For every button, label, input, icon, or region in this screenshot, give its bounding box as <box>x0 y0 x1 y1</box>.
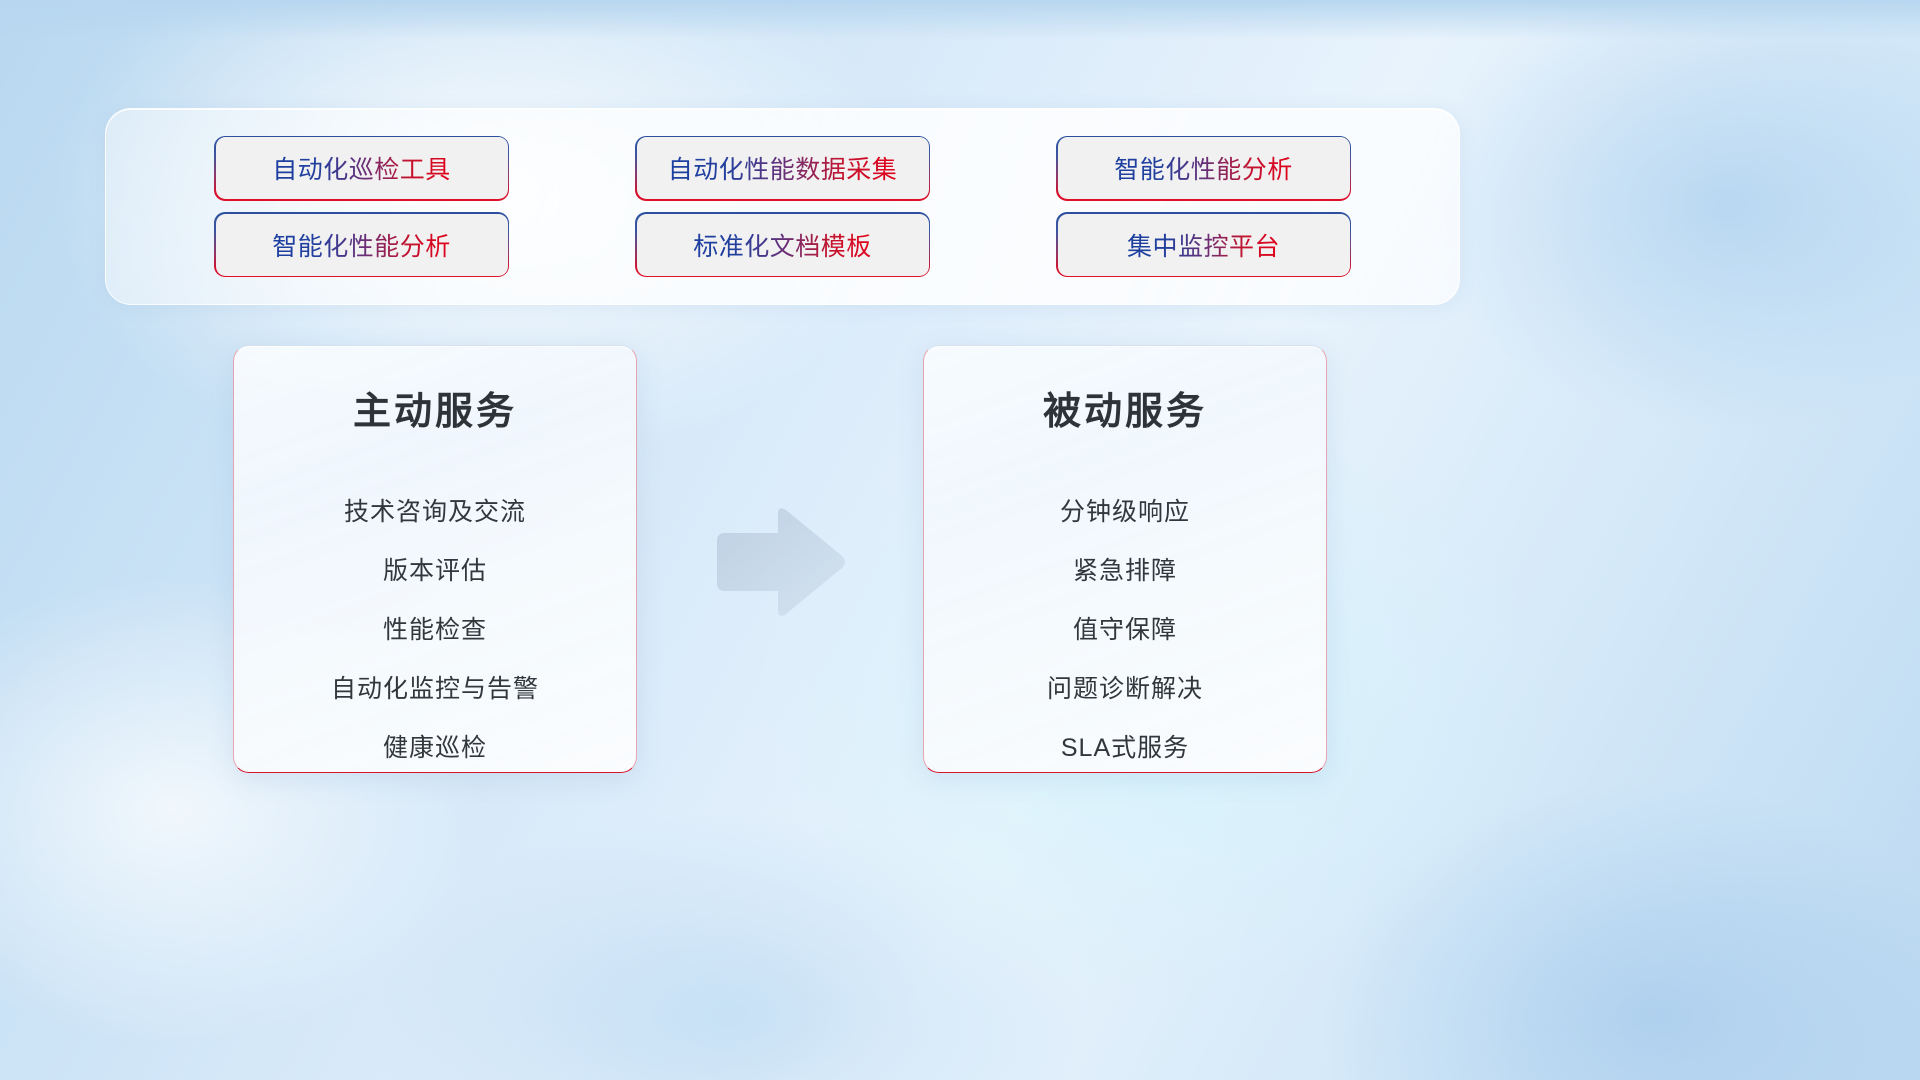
capability-pill-5[interactable]: 标准化文档模板 <box>637 214 929 276</box>
capability-pill-label: 智能化性能分析 <box>272 227 451 263</box>
service-list-item: 技术咨询及交流 <box>344 483 526 542</box>
service-list-item: 问题诊断解决 <box>1047 660 1203 719</box>
arrow-right-icon <box>715 503 847 621</box>
service-card-title: 被动服务 <box>1043 380 1207 435</box>
background-top-band <box>0 0 1920 40</box>
capability-pill-4[interactable]: 智能化性能分析 <box>216 214 508 276</box>
service-list-item: SLA式服务 <box>1061 719 1189 778</box>
service-list-item: 性能检查 <box>383 601 487 660</box>
service-card-proactive[interactable]: 主动服务 技术咨询及交流 版本评估 性能检查 自动化监控与告警 健康巡检 <box>233 345 637 773</box>
service-list-item: 紧急排障 <box>1073 542 1177 601</box>
service-card-title: 主动服务 <box>353 380 517 435</box>
service-card-reactive[interactable]: 被动服务 分钟级响应 紧急排障 值守保障 问题诊断解决 SLA式服务 <box>923 345 1327 773</box>
capability-pill-label: 智能化性能分析 <box>1114 150 1293 186</box>
capability-pill-6[interactable]: 集中监控平台 <box>1058 214 1350 276</box>
capability-pill-label: 集中监控平台 <box>1127 227 1280 263</box>
service-list-item: 版本评估 <box>383 542 487 601</box>
service-item-list: 分钟级响应 紧急排障 值守保障 问题诊断解决 SLA式服务 <box>958 483 1292 778</box>
capability-pill-label: 自动化性能数据采集 <box>668 150 898 186</box>
service-list-item: 健康巡检 <box>383 719 487 778</box>
service-list-item: 分钟级响应 <box>1060 483 1190 542</box>
service-item-list: 技术咨询及交流 版本评估 性能检查 自动化监控与告警 健康巡检 <box>268 483 602 778</box>
capabilities-panel: 自动化巡检工具 自动化性能数据采集 智能化性能分析 智能化性能分析 标准化文档模… <box>105 108 1460 305</box>
capability-pill-3[interactable]: 智能化性能分析 <box>1058 137 1350 199</box>
service-list-item: 值守保障 <box>1073 601 1177 660</box>
capability-pill-1[interactable]: 自动化巡检工具 <box>216 137 508 199</box>
capability-pill-2[interactable]: 自动化性能数据采集 <box>637 137 929 199</box>
capability-pill-label: 自动化巡检工具 <box>272 150 451 186</box>
capability-pill-label: 标准化文档模板 <box>693 227 872 263</box>
service-list-item: 自动化监控与告警 <box>331 660 539 719</box>
